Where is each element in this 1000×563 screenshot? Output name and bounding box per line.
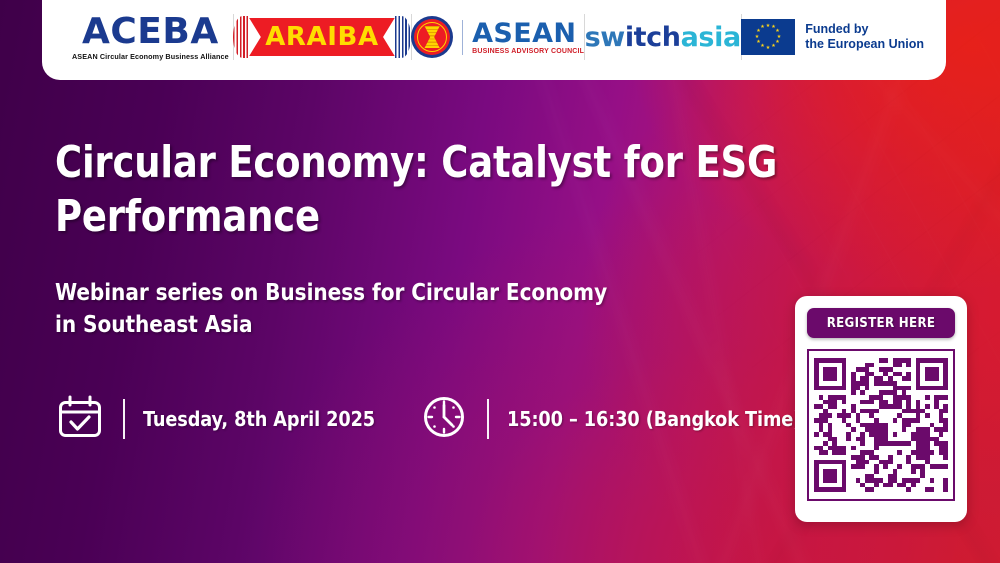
araiba-wordmark: ARAIBA <box>265 22 378 52</box>
eu-funded-line1: Funded by <box>805 22 924 37</box>
switchasia-logo: switchasia <box>585 24 741 51</box>
switchasia-part-asia: asia <box>681 22 741 53</box>
subtitle-line-2: in Southeast Asia <box>55 308 720 340</box>
event-meta-row: Tuesday, 8th April 2025 15:00 – 16:30 (B… <box>55 390 813 448</box>
araiba-fan-left-icon <box>233 16 249 58</box>
eu-flag-icon: ★★★★★★★★★★★★ <box>741 19 795 55</box>
webinar-banner: ACEBA ASEAN Circular Economy Business Al… <box>0 0 1000 563</box>
meta-divider <box>487 399 489 439</box>
page-title: Circular Economy: Catalyst for ESG Perfo… <box>55 136 783 245</box>
page-subtitle: Webinar series on Business for Circular … <box>55 276 720 341</box>
aceba-tagline: ASEAN Circular Economy Business Alliance <box>72 52 229 61</box>
register-button-label: REGISTER HERE <box>827 316 936 331</box>
register-here-button[interactable]: REGISTER HERE <box>807 308 955 338</box>
asean-emblem-icon <box>411 16 453 58</box>
switchasia-part-tch: tch <box>634 22 681 53</box>
event-date: Tuesday, 8th April 2025 <box>143 407 375 431</box>
switchasia-part-sw: sw <box>585 22 625 53</box>
calendar-check-icon <box>55 392 105 447</box>
eu-funded-line2: the European Union <box>805 37 924 52</box>
araiba-badge: ARAIBA <box>249 18 394 56</box>
meta-divider <box>123 399 125 439</box>
asean-wordmark: ASEAN <box>472 20 584 47</box>
subtitle-line-1: Webinar series on Business for Circular … <box>55 276 720 308</box>
asean-tagline: BUSINESS ADVISORY COUNCIL <box>472 48 584 55</box>
araiba-fan-right-icon <box>395 16 411 58</box>
event-time: 15:00 – 16:30 (Bangkok Time) <box>507 407 801 431</box>
eu-funding-logo: ★★★★★★★★★★★★ Funded by the European Unio… <box>741 19 924 55</box>
araiba-logo: ARAIBA <box>233 16 410 58</box>
asean-bac-logo: ASEAN BUSINESS ADVISORY COUNCIL <box>411 16 584 58</box>
meta-spacer <box>401 399 403 439</box>
partner-logo-bar: ACEBA ASEAN Circular Economy Business Al… <box>42 0 946 80</box>
clock-icon <box>419 392 469 447</box>
qr-code[interactable] <box>814 358 948 492</box>
qr-code-frame <box>807 349 955 501</box>
switchasia-part-i: i <box>625 22 634 53</box>
aceba-wordmark: ACEBA <box>82 14 219 50</box>
aceba-logo: ACEBA ASEAN Circular Economy Business Al… <box>72 14 233 61</box>
register-card: REGISTER HERE <box>795 296 967 522</box>
